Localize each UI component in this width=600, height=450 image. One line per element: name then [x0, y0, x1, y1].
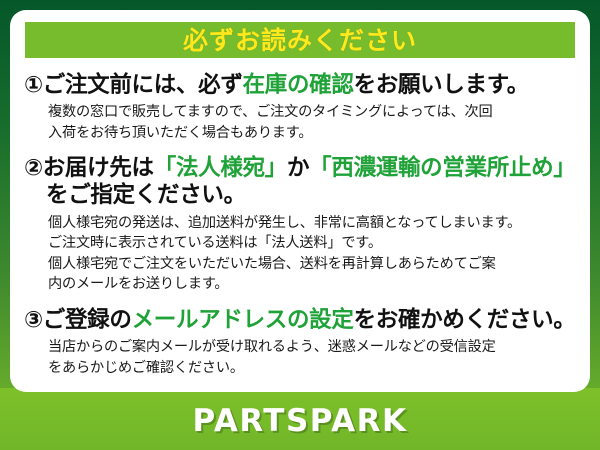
notice-header-bar: 必ずお読みください	[25, 22, 575, 58]
notice-item-3-subline-1: 当店からのご案内メールが受け取れるよう、迷惑メールなどの受信設定	[48, 337, 580, 358]
notice-item-3-heading-part-3: をお確かめください。	[354, 307, 576, 333]
notice-item-1-heading: ①ご注文前には、必ず在庫の確認をお願いします。	[24, 72, 580, 99]
notice-item-3-heading: ③ご登録のメールアドレスの設定をお確かめください。	[24, 307, 580, 334]
notice-item-2-subline-2: ご注文時に表示されている送料は「法人送料」です。	[48, 233, 580, 254]
notice-item-1-subline-1: 複数の窓口で販売してますので、ご注文のタイミングによっては、次回	[48, 102, 580, 123]
notice-item-1-heading-accent: 在庫の確認	[243, 72, 354, 98]
notice-item-1-heading-part-1: ①ご注文前には、必ず	[24, 72, 243, 98]
notice-item-2-heading: ②お届け先は「法人様宛」か「西濃運輸の営業所止め」	[24, 155, 580, 182]
notice-item-2-subtext: 個人様宅宛の発送は、追加送料が発生し、非常に高額となってしまいます。 ご注文時に…	[24, 213, 580, 295]
notice-item-3-subline-2: をあらかじめご確認ください。	[48, 358, 580, 379]
notice-banner: 必ずお読みください ①ご注文前には、必ず在庫の確認をお願いします。 複数の窓口で…	[0, 0, 600, 450]
page-title: 必ずお読みください	[183, 28, 417, 53]
notice-item-2-subline-1: 個人様宅宛の発送は、追加送料が発生し、非常に高額となってしまいます。	[48, 213, 580, 234]
notice-item-2-heading-part-1: ②お届け先は	[24, 155, 154, 181]
notice-item-2-subline-3: 個人様宅宛でご注文をいただいた場合、送料を再計算しあらためてご案	[48, 254, 580, 275]
notice-item-1-subtext: 複数の窓口で販売してますので、ご注文のタイミングによっては、次回 入荷をお待ち頂…	[24, 102, 580, 143]
notice-item-3-subtext: 当店からのご案内メールが受け取れるよう、迷惑メールなどの受信設定 をあらかじめご…	[24, 337, 580, 378]
brand-name: PARTSPARK	[192, 406, 407, 437]
notice-item-1-heading-part-3: をお願いします。	[354, 72, 529, 98]
notice-item-2: ②お届け先は「法人様宛」か「西濃運輸の営業所止め」 をご指定ください。 個人様宅…	[10, 155, 590, 295]
notice-item-3-heading-accent: メールアドレスの設定	[132, 307, 354, 333]
footer-brand: PARTSPARK	[0, 392, 600, 450]
notice-item-2-heading-accent-2: 「西濃運輸の営業所止め」	[309, 155, 575, 181]
notice-item-3-heading-part-1: ③ご登録の	[24, 307, 132, 333]
notice-item-2-heading-line2: をご指定ください。	[24, 182, 580, 209]
notice-item-1: ①ご注文前には、必ず在庫の確認をお願いします。 複数の窓口で販売してますので、ご…	[10, 72, 590, 144]
notice-card: 必ずお読みください ①ご注文前には、必ず在庫の確認をお願いします。 複数の窓口で…	[10, 10, 590, 392]
notice-item-2-heading-part-3: か	[287, 155, 309, 181]
notice-body: ①ご注文前には、必ず在庫の確認をお願いします。 複数の窓口で販売してますので、ご…	[10, 66, 590, 379]
notice-item-3: ③ご登録のメールアドレスの設定をお確かめください。 当店からのご案内メールが受け…	[10, 307, 590, 379]
notice-item-2-subline-4: 内のメールをお送りします。	[48, 274, 580, 295]
notice-item-2-heading-accent-1: 「法人様宛」	[154, 155, 287, 181]
notice-item-1-subline-2: 入荷をお待ち頂いただく場合もあります。	[48, 123, 580, 144]
